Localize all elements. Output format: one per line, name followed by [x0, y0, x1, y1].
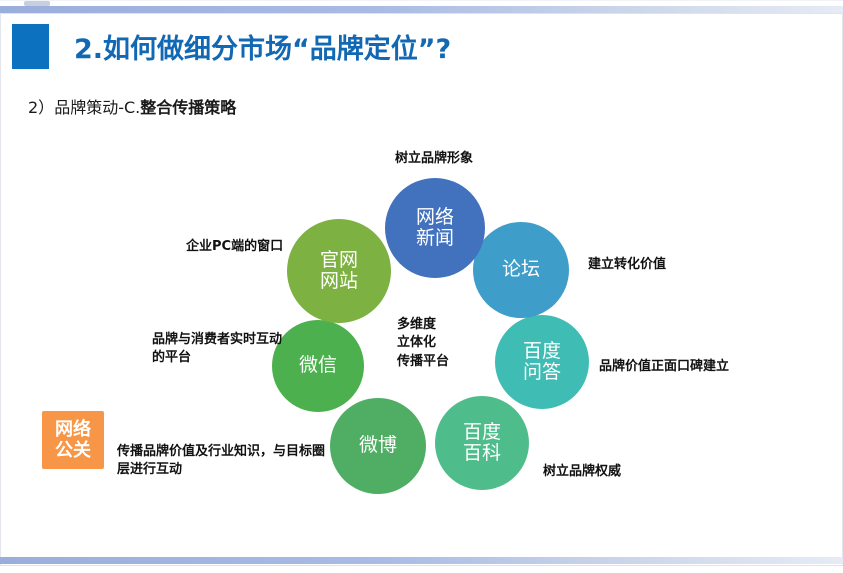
node-forum-label: 论坛 — [502, 259, 540, 280]
note-forum: 建立转化价值 — [588, 256, 666, 274]
center-caption-line-3: 传播平台 — [397, 353, 449, 371]
center-caption-line-1: 多维度 — [397, 316, 449, 334]
left-rail — [0, 13, 1, 565]
slide-canvas: 2.如何做细分市场“品牌定位”? 2）品牌策动-C.整合传播策略 树立品牌形象 … — [0, 0, 843, 573]
node-website[interactable]: 官网网站 — [287, 219, 391, 323]
node-baidu-baike[interactable]: 百度百科 — [435, 396, 529, 490]
node-website-label: 官网网站 — [320, 250, 358, 293]
node-news-label: 网络新闻 — [416, 207, 454, 250]
subheading-bold: 整合传播策略 — [140, 98, 236, 117]
subheading: 2）品牌策动-C.整合传播策略 — [28, 94, 236, 118]
node-baidu-zhidao-label: 百度问答 — [523, 341, 561, 384]
diagram-center-caption: 多维度 立体化 传播平台 — [397, 316, 449, 371]
note-website: 企业PC端的窗口 — [186, 238, 283, 256]
top-divider — [0, 13, 843, 14]
window-top-edge — [0, 0, 843, 1]
note-wechat: 品牌与消费者实时互动的平台 — [152, 331, 282, 368]
node-weibo-label: 微博 — [359, 435, 397, 456]
node-wechat-label: 微信 — [299, 355, 337, 376]
note-weibo: 传播品牌价值及行业知识，与目标圈层进行互动 — [117, 443, 332, 480]
badge-online-pr: 网络公关 — [42, 411, 104, 469]
node-news[interactable]: 网络新闻 — [385, 178, 485, 278]
bottom-scroll-bar[interactable] — [0, 557, 843, 564]
node-weibo[interactable]: 微博 — [330, 398, 426, 494]
note-news: 树立品牌形象 — [395, 150, 473, 168]
node-baidu-zhidao[interactable]: 百度问答 — [495, 315, 589, 409]
top-scroll-bar[interactable] — [0, 6, 843, 13]
bottom-divider — [0, 565, 843, 566]
subheading-normal: 品牌策动-C. — [54, 98, 140, 117]
center-caption-line-2: 立体化 — [397, 334, 449, 352]
node-forum[interactable]: 论坛 — [473, 222, 569, 318]
badge-label: 网络公关 — [55, 419, 91, 461]
page-title: 2.如何做细分市场“品牌定位”? — [74, 27, 451, 66]
node-baidu-baike-label: 百度百科 — [463, 422, 501, 465]
note-baidubk: 树立品牌权威 — [543, 463, 621, 481]
title-accent-square — [12, 24, 49, 69]
node-wechat[interactable]: 微信 — [272, 320, 364, 412]
subheading-number: 2） — [28, 98, 54, 117]
note-baiduzd: 品牌价值正面口碑建立 — [599, 358, 729, 376]
